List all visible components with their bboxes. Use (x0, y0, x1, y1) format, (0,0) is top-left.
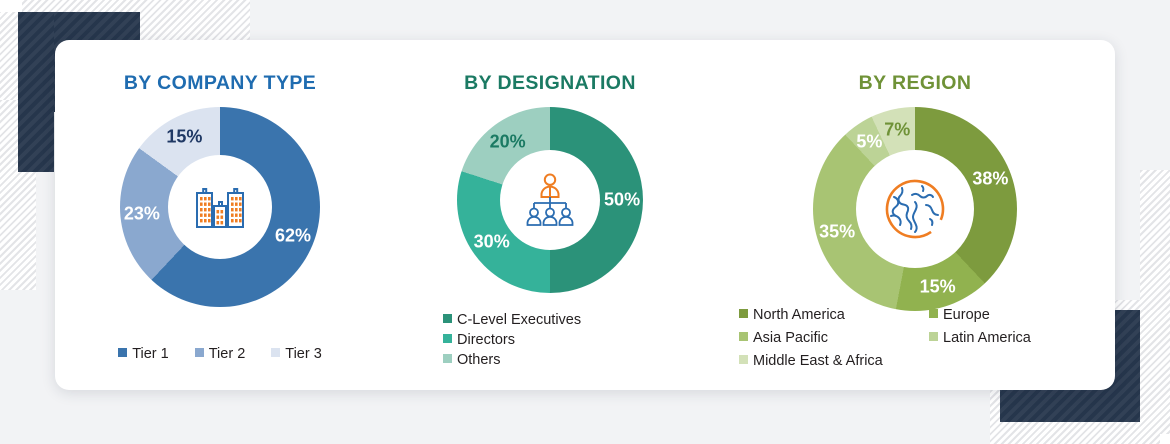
donut-chart-designation: 50%30%20% (457, 107, 643, 293)
legend-label: Tier 1 (132, 346, 169, 362)
decor-navy-arm-top-left (18, 12, 54, 172)
legend-swatch-icon (443, 334, 452, 343)
decor-white-notch-top-left (0, 0, 22, 12)
chart-title-designation: BY DESIGNATION (385, 72, 715, 95)
legend-label: Middle East & Africa (753, 353, 883, 369)
legend-swatch-icon (271, 348, 280, 357)
legend-label: Asia Pacific (753, 330, 828, 346)
legend-item[interactable]: Tier 2 (195, 346, 246, 362)
legend-label: Directors (457, 332, 515, 348)
legend-label: Latin America (943, 330, 1031, 346)
decor-white-notch-bottom-right (1160, 434, 1170, 444)
donut-center-company-type (168, 155, 272, 259)
chart-panel-company-type: BY COMPANY TYPE (55, 40, 385, 390)
chart-title-region: BY REGION (715, 72, 1115, 95)
legend-item[interactable]: Asia Pacific (739, 330, 929, 349)
legend-label: North America (753, 307, 845, 323)
legend-swatch-icon (929, 309, 938, 318)
legend-swatch-icon (443, 314, 452, 323)
org-hierarchy-icon (517, 169, 583, 231)
legend-item[interactable]: Directors (443, 332, 715, 348)
donut-center-region (856, 150, 974, 268)
chart-panel-designation: BY DESIGNATION (385, 40, 715, 390)
legend-item[interactable]: Tier 3 (271, 346, 322, 362)
legend-item[interactable]: Others (443, 352, 715, 368)
legend-item[interactable]: Tier 1 (118, 346, 169, 362)
office-buildings-icon (189, 176, 251, 238)
chart-panel-region: BY REGION (715, 40, 1115, 390)
legend-label: Others (457, 352, 501, 368)
legend-item[interactable]: North America (739, 307, 929, 326)
donut-center-designation (500, 150, 600, 250)
legend-label: Tier 3 (285, 346, 322, 362)
legend-swatch-icon (739, 332, 748, 341)
legend-item[interactable]: Middle East & Africa (739, 353, 929, 372)
legend-swatch-icon (195, 348, 204, 357)
legend-region: North America Europe Asia Pacific Latin … (715, 307, 1115, 376)
donut-chart-company-type: 62%23%15% (120, 107, 320, 307)
donut-chart-region: 38%15%35%5%7% (813, 107, 1017, 311)
legend-item[interactable]: Europe (929, 307, 1099, 326)
legend-swatch-icon (118, 348, 127, 357)
legend-swatch-icon (739, 355, 748, 364)
legend-swatch-icon (443, 354, 452, 363)
legend-label: C-Level Executives (457, 312, 581, 328)
globe-icon (878, 172, 952, 246)
legend-designation: C-Level Executives Directors Others (385, 312, 715, 372)
legend-swatch-icon (929, 332, 938, 341)
chart-title-company-type: BY COMPANY TYPE (55, 72, 385, 95)
infographic-card: BY COMPANY TYPE (55, 40, 1115, 390)
legend-label: Tier 2 (209, 346, 246, 362)
legend-item[interactable]: Latin America (929, 330, 1099, 349)
legend-swatch-icon (739, 309, 748, 318)
legend-label: Europe (943, 307, 990, 323)
legend-item[interactable]: C-Level Executives (443, 312, 715, 328)
decor-stripes-right-edge (1140, 170, 1170, 310)
legend-company-type: Tier 1 Tier 2 Tier 3 (55, 346, 385, 362)
